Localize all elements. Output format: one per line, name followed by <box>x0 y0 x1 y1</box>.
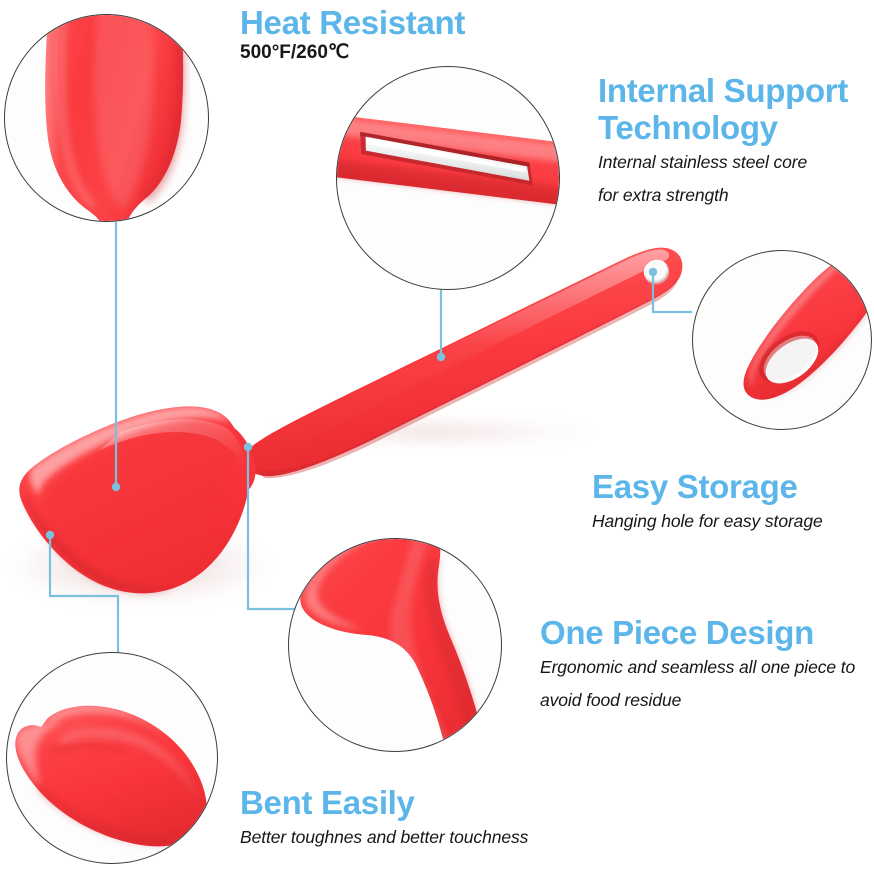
feature-bent-easily: Bent Easily Better toughnes and better t… <box>240 784 528 854</box>
feature-sub-internal-support-line2: for extra strength <box>598 179 874 212</box>
feature-title-heat-resistant: Heat Resistant <box>240 4 465 41</box>
feature-sub-bent-easily-line1: Better toughnes and better touchness <box>240 821 528 854</box>
feature-title-bent-easily: Bent Easily <box>240 784 528 821</box>
feature-title-internal-support: Internal Support Technology <box>598 72 874 146</box>
bubble-one-piece-joint <box>288 538 502 752</box>
infographic-canvas: Heat Resistant 500°F/260℃ Internal Suppo… <box>0 0 874 883</box>
feature-sub-internal-support-line1: Internal stainless steel core <box>598 146 874 179</box>
feature-title-easy-storage: Easy Storage <box>592 468 823 505</box>
feature-sub-one-piece-line2: avoid food residue <box>540 684 874 717</box>
feature-title-one-piece-design: One Piece Design <box>540 614 874 651</box>
feature-heat-resistant: Heat Resistant 500°F/260℃ <box>240 4 465 65</box>
feature-sub-one-piece-line1: Ergonomic and seamless all one piece to <box>540 651 874 684</box>
feature-easy-storage: Easy Storage Hanging hole for easy stora… <box>592 468 823 538</box>
bubble-hanging-hole <box>692 250 872 430</box>
feature-internal-support: Internal Support Technology Internal sta… <box>598 72 874 212</box>
bubble-bent-head <box>6 652 218 864</box>
feature-one-piece-design: One Piece Design Ergonomic and seamless … <box>540 614 874 717</box>
bubble-spatula-head-top <box>4 14 209 222</box>
feature-sub-easy-storage-line1: Hanging hole for easy storage <box>592 505 823 538</box>
feature-sub-heat-resistant: 500°F/260℃ <box>240 41 465 65</box>
bubble-steel-core <box>336 66 560 290</box>
